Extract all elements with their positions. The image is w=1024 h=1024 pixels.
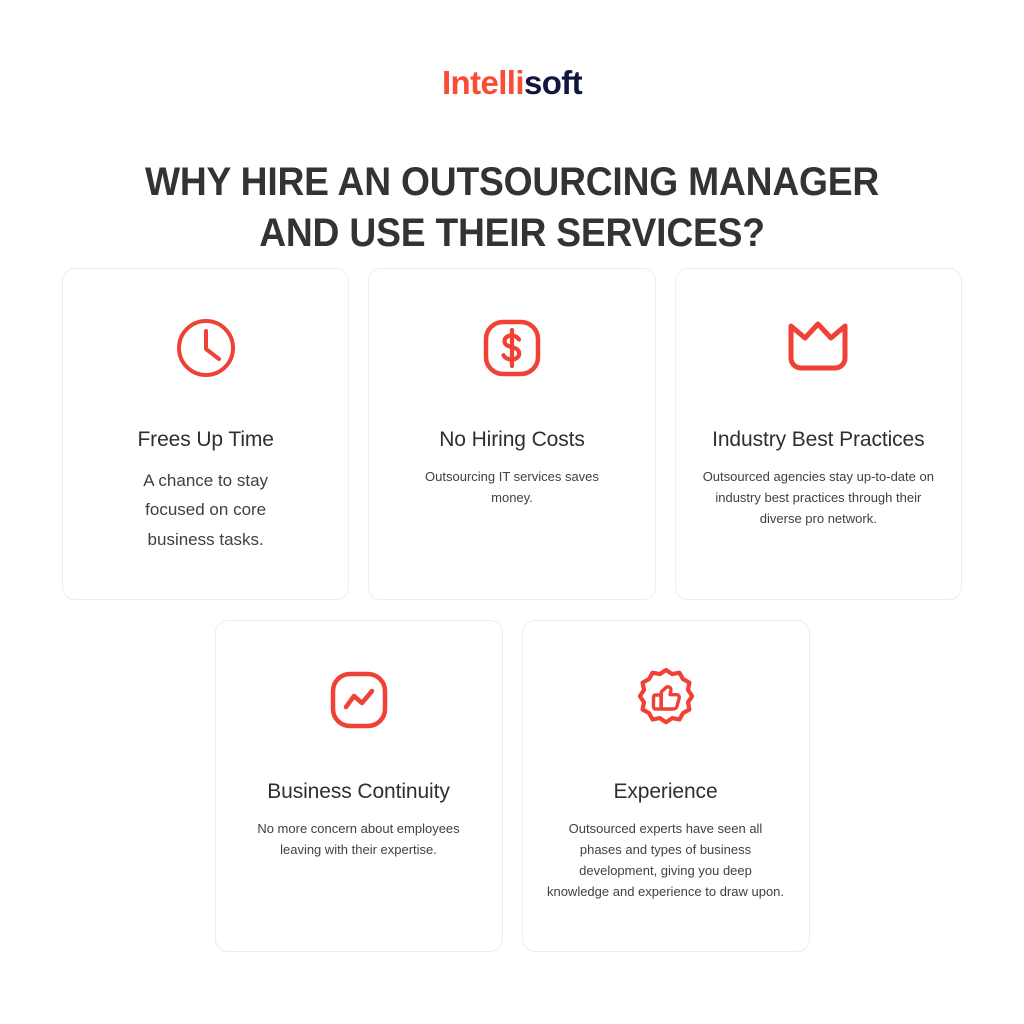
benefit-card-body: Outsourcing IT services saves money.	[424, 466, 600, 508]
crown-icon	[781, 311, 855, 385]
benefit-card-industry-best-practices[interactable]: Industry Best Practices Outsourced agenc…	[675, 268, 962, 600]
logo-text-primary: Intelli	[442, 64, 524, 101]
page-title-line-1: WHY HIRE AN OUTSOURCING MANAGER	[94, 157, 931, 208]
benefit-card-body: Outsourced agencies stay up-to-date on i…	[694, 466, 943, 529]
benefit-card-title: Industry Best Practices	[712, 427, 924, 453]
benefit-card-business-continuity[interactable]: Business Continuity No more concern abou…	[215, 620, 503, 952]
card-row-bottom: Business Continuity No more concern abou…	[62, 620, 962, 952]
dollar-square-icon	[475, 311, 549, 385]
clock-icon	[169, 311, 243, 385]
benefit-card-title: No Hiring Costs	[439, 427, 585, 453]
brand-logo: Intellisoft	[0, 66, 1024, 99]
trend-line-square-icon	[322, 663, 396, 737]
benefit-card-body: No more concern about employees leaving …	[240, 818, 478, 860]
benefit-card-experience[interactable]: Experience Outsourced experts have seen …	[522, 620, 810, 952]
benefit-card-title: Frees Up Time	[137, 427, 273, 453]
logo-text-secondary: soft	[524, 64, 582, 101]
benefit-card-frees-up-time[interactable]: Frees Up Time A chance to stay focused o…	[62, 268, 349, 600]
benefit-card-no-hiring-costs[interactable]: No Hiring Costs Outsourcing IT services …	[368, 268, 655, 600]
page-title-line-2: AND USE THEIR SERVICES?	[94, 208, 931, 259]
benefit-card-grid: Frees Up Time A chance to stay focused o…	[62, 268, 962, 952]
benefit-card-title: Experience	[613, 779, 717, 805]
benefit-card-body: Outsourced experts have seen all phases …	[547, 818, 785, 902]
benefit-card-title: Business Continuity	[267, 779, 450, 805]
logo-text: Intellisoft	[442, 66, 582, 99]
thumbs-up-badge-icon	[629, 663, 703, 737]
card-row-top: Frees Up Time A chance to stay focused o…	[62, 268, 962, 600]
benefit-card-body: A chance to stay focused on core busines…	[115, 466, 297, 554]
page-title: WHY HIRE AN OUTSOURCING MANAGER AND USE …	[94, 157, 931, 259]
